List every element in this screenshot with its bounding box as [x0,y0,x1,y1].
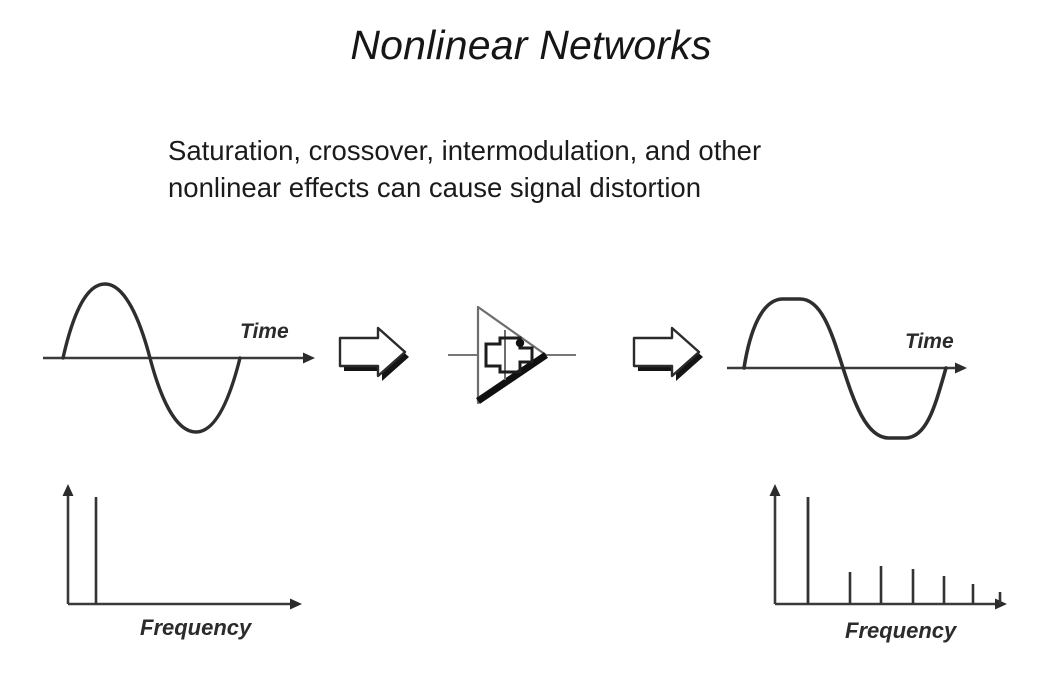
output-time-axis-label: Time [905,330,954,353]
input-spectrum-chart: Frequency [63,484,303,640]
input-time-axis-label: Time [240,320,289,343]
input-waveform-chart: Time [43,284,315,432]
slide-canvas: Nonlinear Networks Saturation, crossover… [0,0,1062,674]
input-spectrum-y-arrowhead [63,484,74,496]
output-time-axis-arrowhead [955,363,967,374]
output-spectrum-y-arrowhead [770,484,781,496]
input-time-axis-arrowhead [303,353,315,364]
arrow-amplifier-to-output [634,328,703,381]
input-spectrum-x-label: Frequency [140,615,253,640]
signal-chain-diagram: Time [0,0,1062,674]
amplifier-node-dot [516,339,524,347]
output-spectrum-x-label: Frequency [845,618,958,643]
output-waveform-chart: Time [727,299,967,438]
amplifier-symbol [448,307,576,403]
amplifier-triangle [478,307,546,403]
input-spectrum-x-arrowhead [290,599,302,610]
output-spectrum-chart: Frequency [770,484,1008,643]
arrow-input-to-amplifier [340,328,409,381]
diagram-svg: Time [0,0,1062,674]
